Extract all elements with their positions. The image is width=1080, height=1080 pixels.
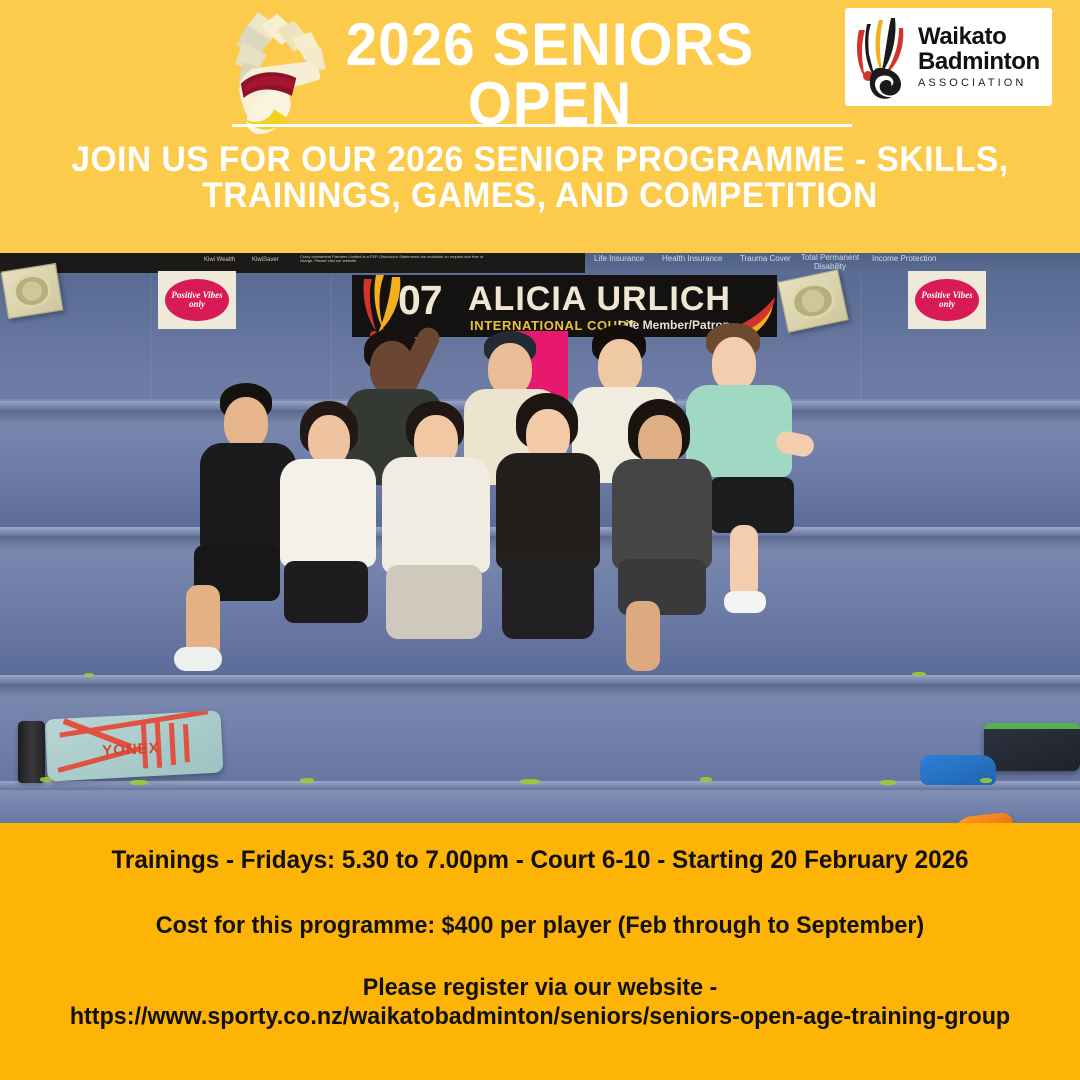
bag-brand: YONEX: [102, 740, 160, 760]
title-divider: [232, 124, 852, 127]
koru-icon: [849, 14, 915, 100]
speaker-grille: [10, 272, 54, 311]
logo-line-3: ASSOCIATION: [918, 78, 1040, 89]
wall-speaker-left: [1, 263, 64, 319]
wall-panel-line: [330, 275, 332, 399]
court-name: ALICIA URLICH: [468, 280, 731, 319]
positive-vibes-poster-left: Positive Vibes only: [158, 271, 236, 329]
insurance-item: Trauma Cover: [740, 254, 791, 263]
sponsor-disclaimer: Crazy Investment Partners Limited is a F…: [300, 255, 485, 263]
dark-racket-bag: [984, 723, 1080, 771]
waikato-badminton-logo: Waikato Badminton ASSOCIATION: [845, 8, 1052, 106]
insurance-item: Total Permanent Disability: [800, 254, 860, 272]
registration-details: Please register via our website - https:…: [30, 973, 1050, 1032]
logo-wordmark: Waikato Badminton ASSOCIATION: [918, 25, 1040, 89]
sponsor-name: Kiwi Wealth: [204, 257, 235, 263]
poster: 2026 SENIORS OPEN JOIN US FOR OUR 2026 S…: [0, 0, 1080, 1080]
wall-panel-line: [150, 275, 152, 399]
poster-footer: Trainings - Fridays: 5.30 to 7.00pm - Co…: [0, 823, 1080, 1080]
title-block: 2026 SENIORS OPEN: [240, 16, 860, 134]
poster-text: Positive Vibes only: [165, 279, 229, 322]
speaker-grille: [788, 279, 838, 323]
bleacher-shadow: [0, 684, 1080, 698]
insurance-item: Health Insurance: [662, 254, 722, 263]
training-details: Trainings - Fridays: 5.30 to 7.00pm - Co…: [30, 845, 1050, 876]
sponsor-name: KiwiSaver: [252, 257, 279, 263]
yonex-racket-bag: YONEX: [44, 710, 223, 781]
black-water-bottle: [18, 721, 45, 783]
poster-header: 2026 SENIORS OPEN JOIN US FOR OUR 2026 S…: [0, 0, 1080, 253]
subtitle: JOIN US FOR OUR 2026 SENIOR PROGRAMME - …: [39, 142, 1041, 215]
bleacher-lip-front: [0, 781, 1080, 790]
bleacher-lip: [0, 675, 1080, 684]
sponsor-strip: Kiwi Wealth KiwiSaver Crazy Investment P…: [0, 253, 585, 273]
cost-details: Cost for this programme: $400 per player…: [30, 911, 1050, 940]
page-title: 2026 SENIORS OPEN: [259, 16, 842, 134]
logo-line-2: Badminton: [918, 50, 1040, 74]
wall-panel-line: [860, 275, 862, 399]
insurance-item: Income Protection: [872, 254, 936, 263]
positive-vibes-poster-right: Positive Vibes only: [908, 271, 986, 329]
court-number: 07: [398, 277, 442, 324]
insurance-item: Life Insurance: [594, 254, 644, 263]
poster-text: Positive Vibes only: [915, 279, 979, 322]
logo-line-1: Waikato: [918, 25, 1040, 49]
team-photo: Life Insurance Health Insurance Trauma C…: [0, 253, 1080, 823]
